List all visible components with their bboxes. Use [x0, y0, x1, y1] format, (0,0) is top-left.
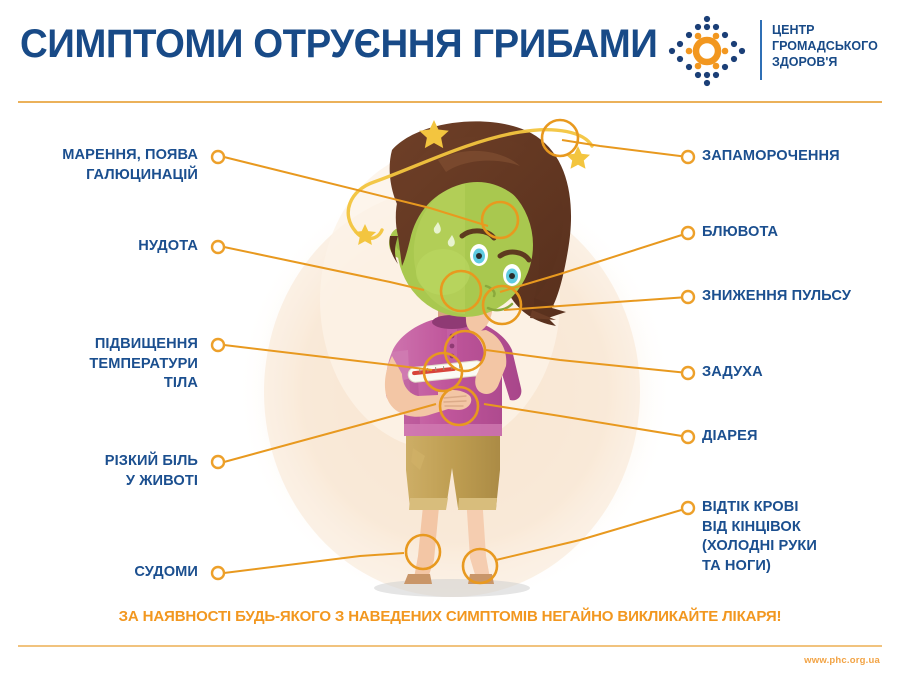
header: СИМПТОМИ ОТРУЄННЯ ГРИБАМИ [0, 0, 900, 100]
symptom-label-low-pulse[interactable]: ЗНИЖЕННЯ ПУЛЬСУ [702, 287, 851, 307]
page-title: СИМПТОМИ ОТРУЄННЯ ГРИБАМИ [20, 22, 657, 67]
logo-mark-icon [668, 14, 746, 88]
logo-text: ЦЕНТР ГРОМАДСЬКОГО ЗДОРОВ'Я [772, 22, 887, 70]
ring-dizziness [542, 120, 578, 156]
ground-shadow [374, 579, 530, 597]
logo-divider [760, 20, 762, 80]
dot-blood [682, 502, 694, 514]
dot-suffocation [682, 367, 694, 379]
dot-nausea [212, 241, 224, 253]
symptom-label-abdominal-pain[interactable]: РІЗКИЙ БІЛЬ У ЖИВОТІ [105, 452, 198, 491]
shirt-hem [404, 424, 502, 436]
symptom-label-fever[interactable]: ПІДВИЩЕННЯ ТЕМПЕРАТУРИ ТІЛА [89, 335, 198, 394]
dot-diarrhea [682, 431, 694, 443]
shirt-button-2 [450, 344, 455, 349]
dot-pulse [682, 291, 694, 303]
star-2 [566, 146, 590, 169]
dot-abdominal [212, 456, 224, 468]
shorts-cuff-right [458, 498, 497, 510]
foot-left [404, 574, 432, 584]
symptom-label-vomiting[interactable]: БЛЮВОТА [702, 223, 778, 243]
symptom-label-cramps[interactable]: СУДОМИ [134, 563, 198, 583]
connector-dots-right [682, 151, 694, 514]
logo[interactable]: ЦЕНТР ГРОМАДСЬКОГО ЗДОРОВ'Я [668, 12, 883, 90]
footer-divider [18, 645, 882, 647]
shorts-cuff-left [409, 498, 448, 510]
symptom-label-nausea[interactable]: НУДОТА [138, 237, 198, 257]
infographic-root: СИМПТОМИ ОТРУЄННЯ ГРИБАМИ [0, 0, 900, 675]
dot-cramps [212, 567, 224, 579]
logo-line-1: ЦЕНТР [772, 22, 887, 38]
dot-dizziness [682, 151, 694, 163]
pupil-left [476, 253, 482, 259]
dot-fever [212, 339, 224, 351]
symptom-label-dizziness[interactable]: ЗАПАМОРОЧЕННЯ [702, 147, 840, 167]
website-link[interactable]: www.phc.org.ua [804, 655, 880, 666]
pupil-right [509, 273, 515, 279]
warning-banner: ЗА НАЯВНОСТІ БУДЬ-ЯКОГО З НАВЕДЕНИХ СИМП… [5, 608, 896, 625]
symptom-label-diarrhea[interactable]: ДІАРЕЯ [702, 427, 758, 447]
dot-vomiting [682, 227, 694, 239]
logo-line-3: ЗДОРОВ'Я [772, 54, 887, 70]
connector-dots-left [212, 151, 224, 579]
symptom-label-suffocation[interactable]: ЗАДУХА [702, 363, 763, 383]
symptom-label-blood-outflow[interactable]: ВІДТІК КРОВІ ВІД КІНЦІВОК (ХОЛОДНІ РУКИ … [702, 498, 817, 576]
header-divider [18, 101, 882, 103]
dot-hallucinations [212, 151, 224, 163]
symptom-label-hallucinations[interactable]: МАРЕННЯ, ПОЯВА ГАЛЮЦИНАЦІЙ [62, 146, 198, 185]
logo-line-2: ГРОМАДСЬКОГО [772, 38, 887, 54]
